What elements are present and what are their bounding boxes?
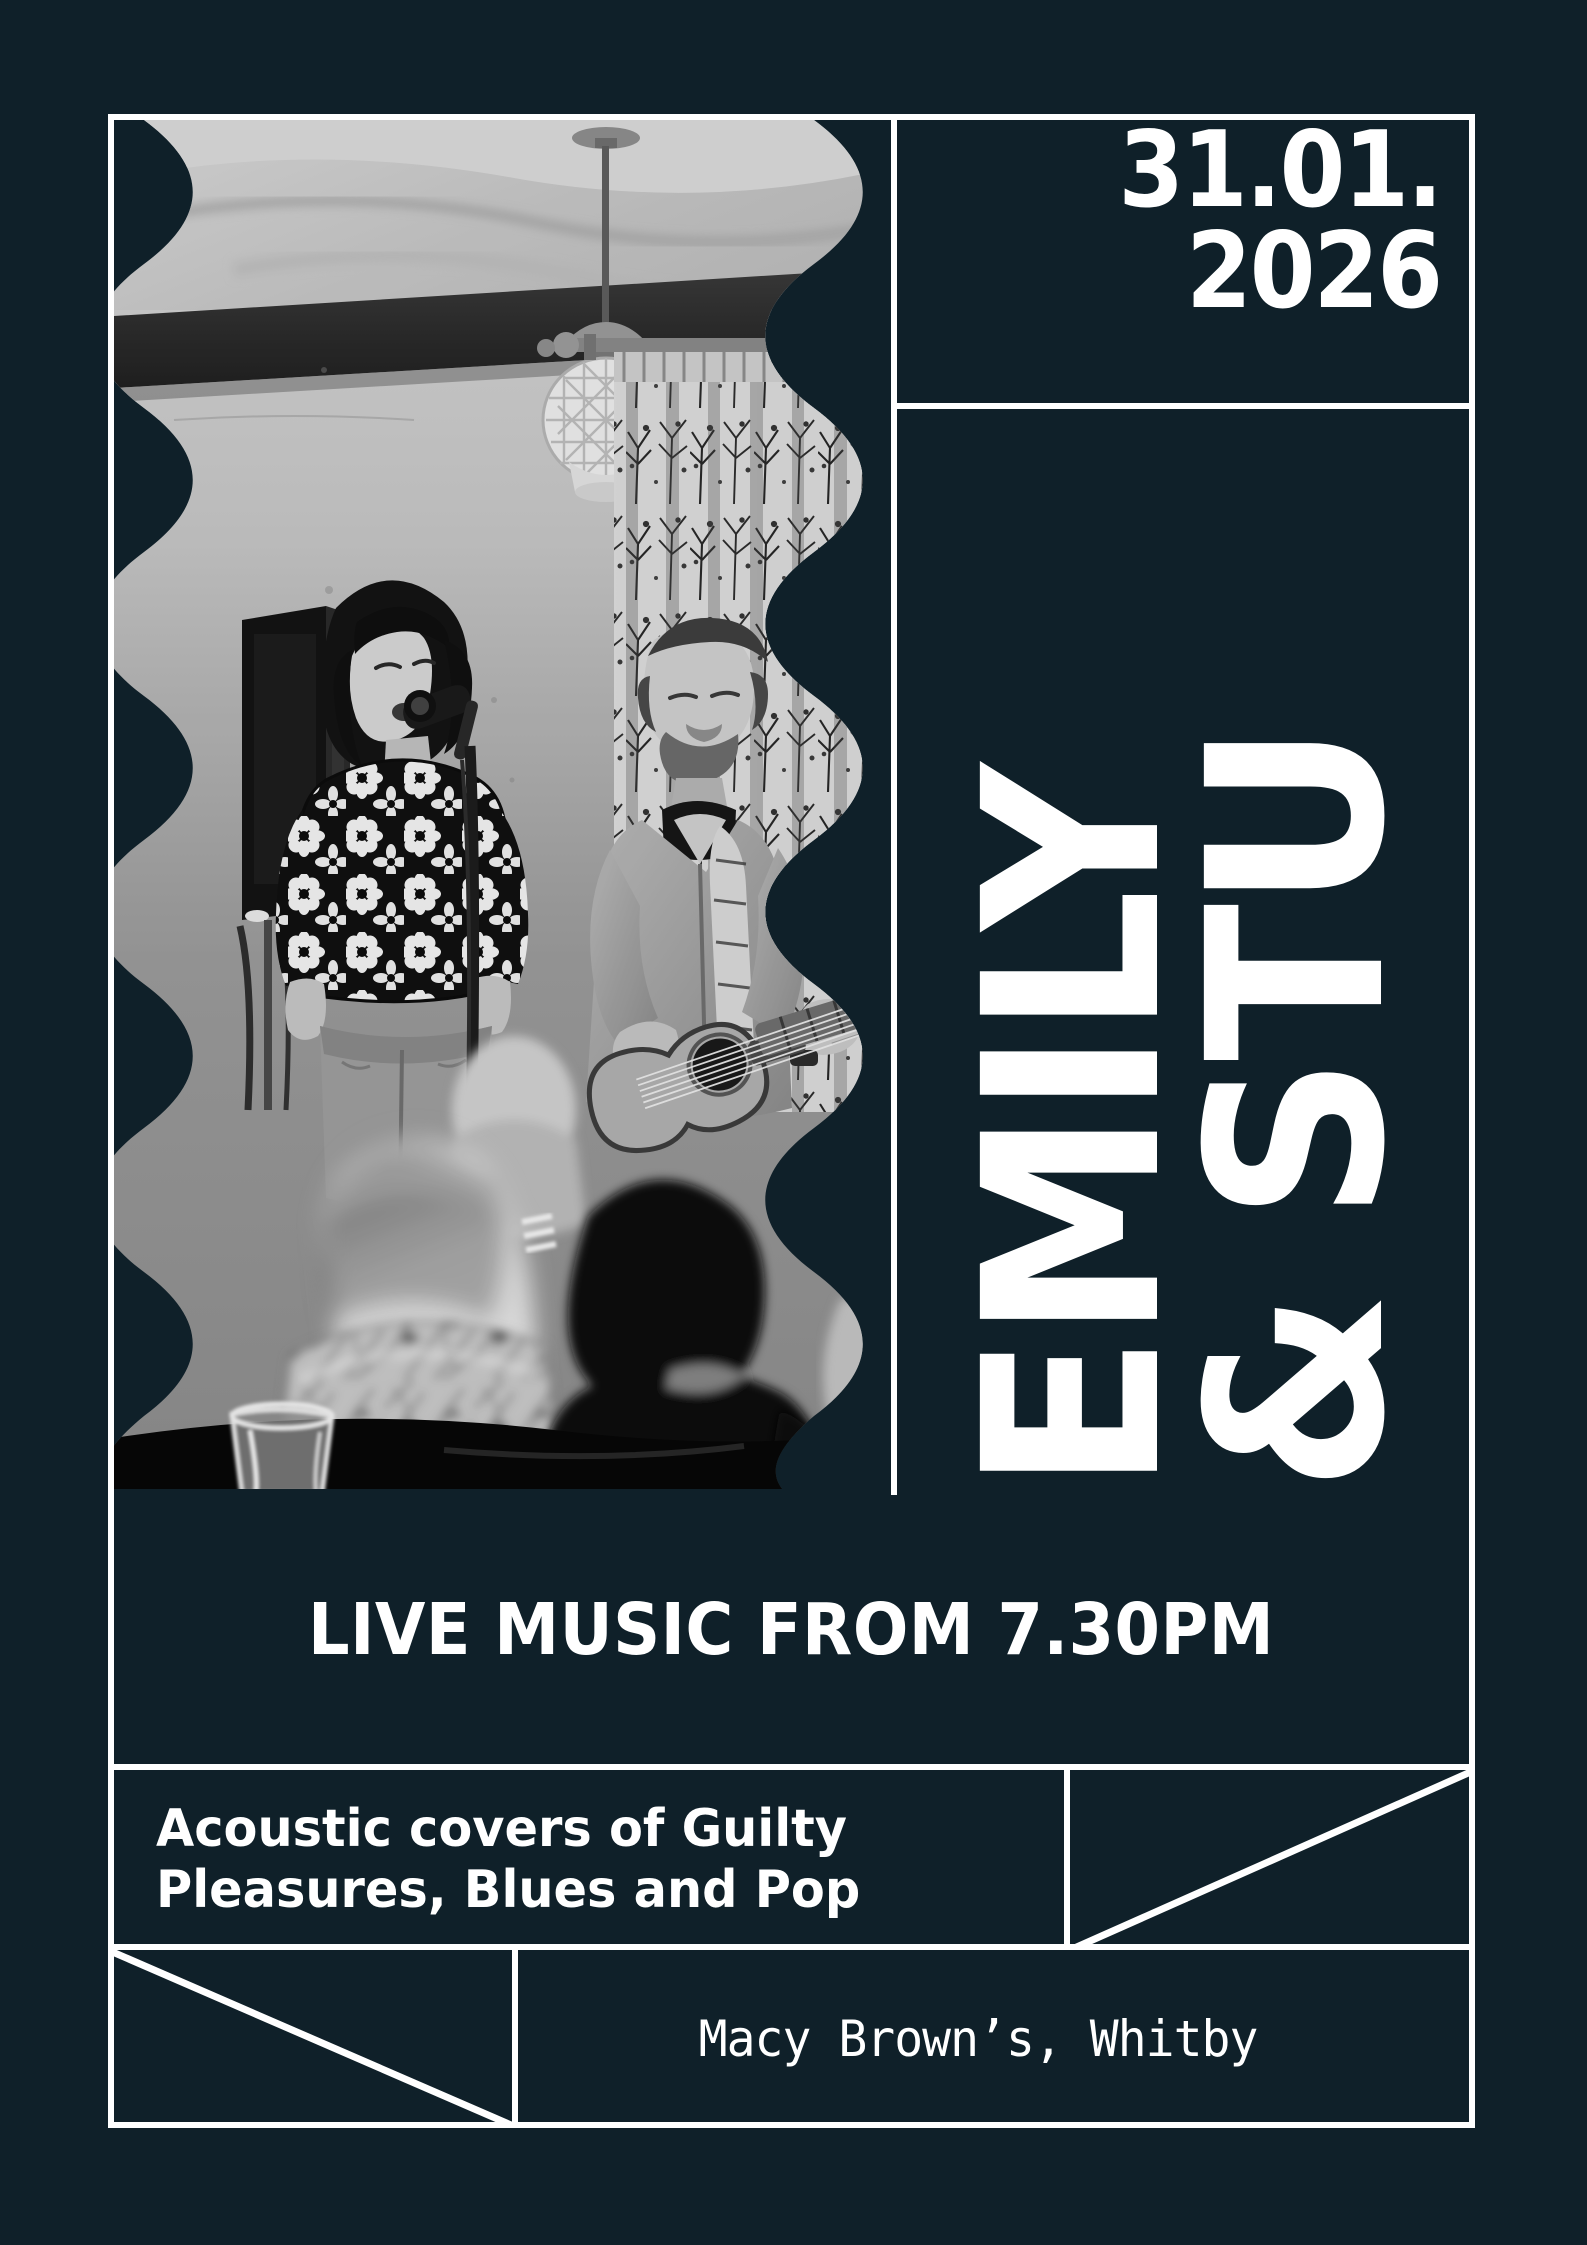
poster-canvas: 31.01. 2026 EMILY & STU LIVE MUSIC FROM … — [0, 0, 1587, 2245]
poster-frame — [108, 114, 1475, 2128]
